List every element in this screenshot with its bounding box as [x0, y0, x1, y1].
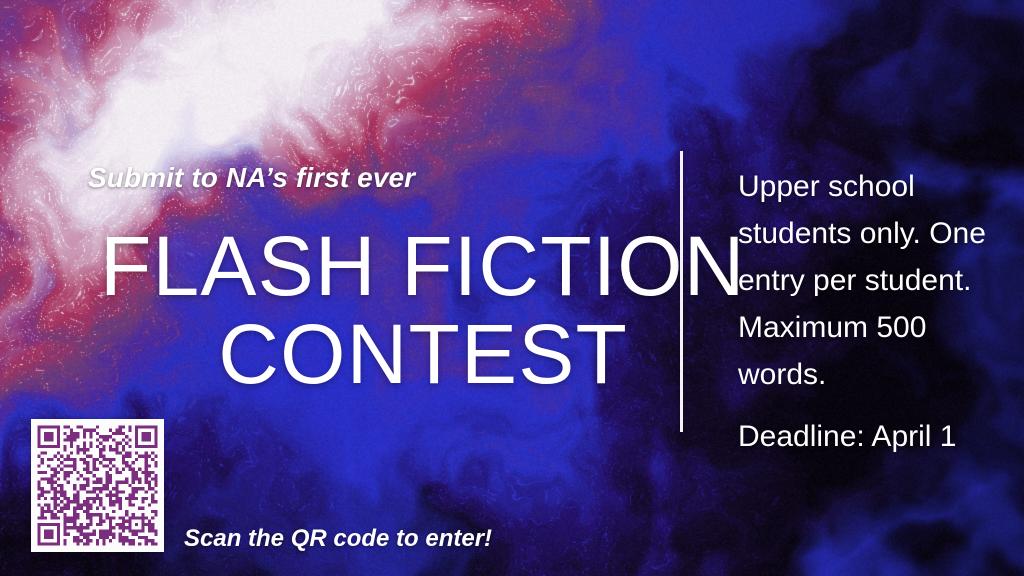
vertical-divider [680, 151, 683, 432]
rules-text: Upper school students only. One entry pe… [738, 163, 988, 398]
page-title: FLASH FICTION CONTEST [100, 222, 628, 398]
rules-panel: Upper school students only. One entry pe… [738, 163, 988, 460]
qr-caption-text: Scan the QR code to enter! [184, 524, 492, 554]
poster-content: Submit to NA’s first ever FLASH FICTION … [0, 0, 1024, 576]
deadline-text: Deadline: April 1 [738, 413, 988, 460]
poster-canvas: Submit to NA’s first ever FLASH FICTION … [0, 0, 1024, 576]
qr-code-image[interactable] [31, 419, 164, 552]
qr-code[interactable] [31, 419, 164, 552]
page-title-line-2: CONTEST [100, 310, 628, 398]
page-title-line-1: FLASH FICTION [100, 222, 628, 310]
eyebrow-text: Submit to NA’s first ever [88, 161, 415, 195]
